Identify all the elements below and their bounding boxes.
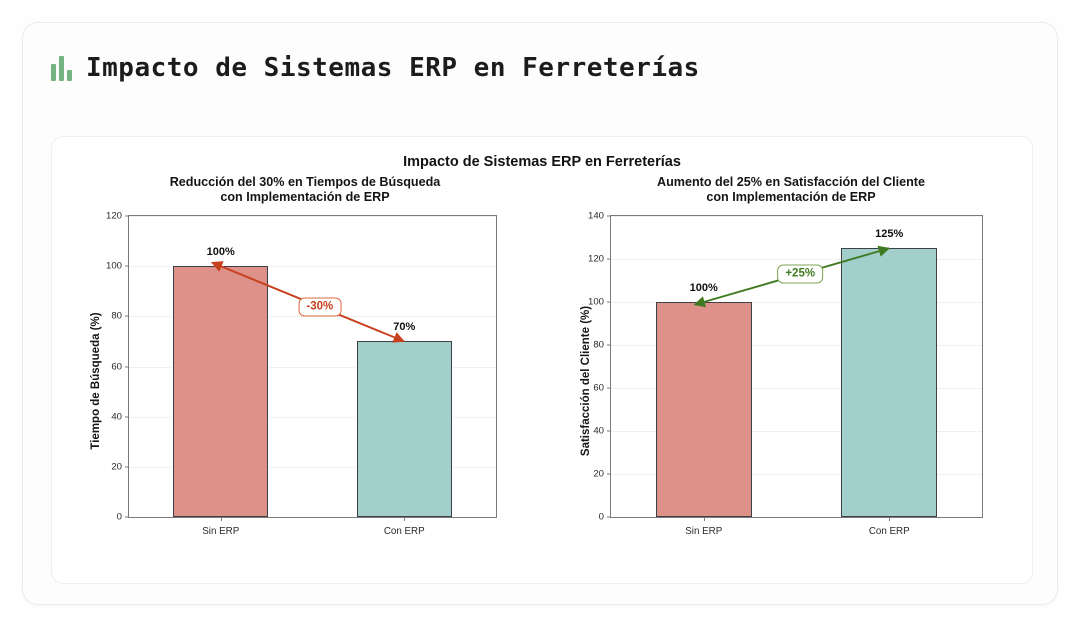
annotation-chip: -30% <box>298 297 341 316</box>
screen: Impacto de Sistemas ERP en Ferreterías I… <box>0 0 1080 626</box>
subplot-title-line2: con Implementación de ERP <box>62 190 548 205</box>
y-tick-label: 60 <box>593 383 611 394</box>
plot-area: 020406080100120100%Sin ERP70%Con ERP-30% <box>128 215 497 518</box>
outer-card: Impacto de Sistemas ERP en Ferreterías I… <box>22 22 1058 605</box>
y-tick-label: 20 <box>111 461 129 472</box>
y-tick-label: 40 <box>593 426 611 437</box>
y-tick-label: 80 <box>111 311 129 322</box>
plot-area: 020406080100120140100%Sin ERP125%Con ERP… <box>610 215 983 518</box>
annotation-arrow <box>611 216 982 517</box>
y-tick-label: 60 <box>111 361 129 372</box>
y-tick-label: 20 <box>593 469 611 480</box>
bar-chart-icon <box>51 55 72 81</box>
subplot-title: Reducción del 30% en Tiempos de Búsqueda… <box>62 175 548 205</box>
figure-suptitle: Impacto de Sistemas ERP en Ferreterías <box>52 154 1032 170</box>
subplot-satisfaccion-cliente: Aumento del 25% en Satisfacción del Clie… <box>548 175 1034 575</box>
y-tick-label: 140 <box>588 211 611 222</box>
y-tick-label: 80 <box>593 340 611 351</box>
y-axis-label: Satisfacción del Cliente (%) <box>580 251 592 511</box>
annotation-arrow <box>129 216 496 517</box>
y-tick-label: 40 <box>111 411 129 422</box>
x-tick-label: Con ERP <box>384 526 425 537</box>
figure-card: Impacto de Sistemas ERP en Ferreterías R… <box>51 136 1033 584</box>
subplot-title-line1: Reducción del 30% en Tiempos de Búsqueda <box>62 175 548 190</box>
x-tick-label: Sin ERP <box>202 526 239 537</box>
y-tick-label: 120 <box>588 254 611 265</box>
x-tick-mark <box>221 517 222 521</box>
x-tick-mark <box>704 517 705 521</box>
y-axis-label: Tiempo de Búsqueda (%) <box>90 261 102 501</box>
subplot-title: Aumento del 25% en Satisfacción del Clie… <box>548 175 1034 205</box>
subplot-title-line2: con Implementación de ERP <box>548 190 1034 205</box>
subplot-tiempo-busqueda: Reducción del 30% en Tiempos de Búsqueda… <box>62 175 548 575</box>
y-tick-label: 0 <box>117 512 129 523</box>
page-title: Impacto de Sistemas ERP en Ferreterías <box>86 53 700 83</box>
y-tick-label: 100 <box>106 261 129 272</box>
y-tick-label: 0 <box>599 512 611 523</box>
y-tick-label: 120 <box>106 211 129 222</box>
x-tick-label: Sin ERP <box>685 526 722 537</box>
annotation-chip: +25% <box>777 265 823 284</box>
x-tick-label: Con ERP <box>869 526 910 537</box>
page-header: Impacto de Sistemas ERP en Ferreterías <box>51 53 700 83</box>
y-tick-label: 100 <box>588 297 611 308</box>
subplot-title-line1: Aumento del 25% en Satisfacción del Clie… <box>548 175 1034 190</box>
x-tick-mark <box>889 517 890 521</box>
x-tick-mark <box>404 517 405 521</box>
